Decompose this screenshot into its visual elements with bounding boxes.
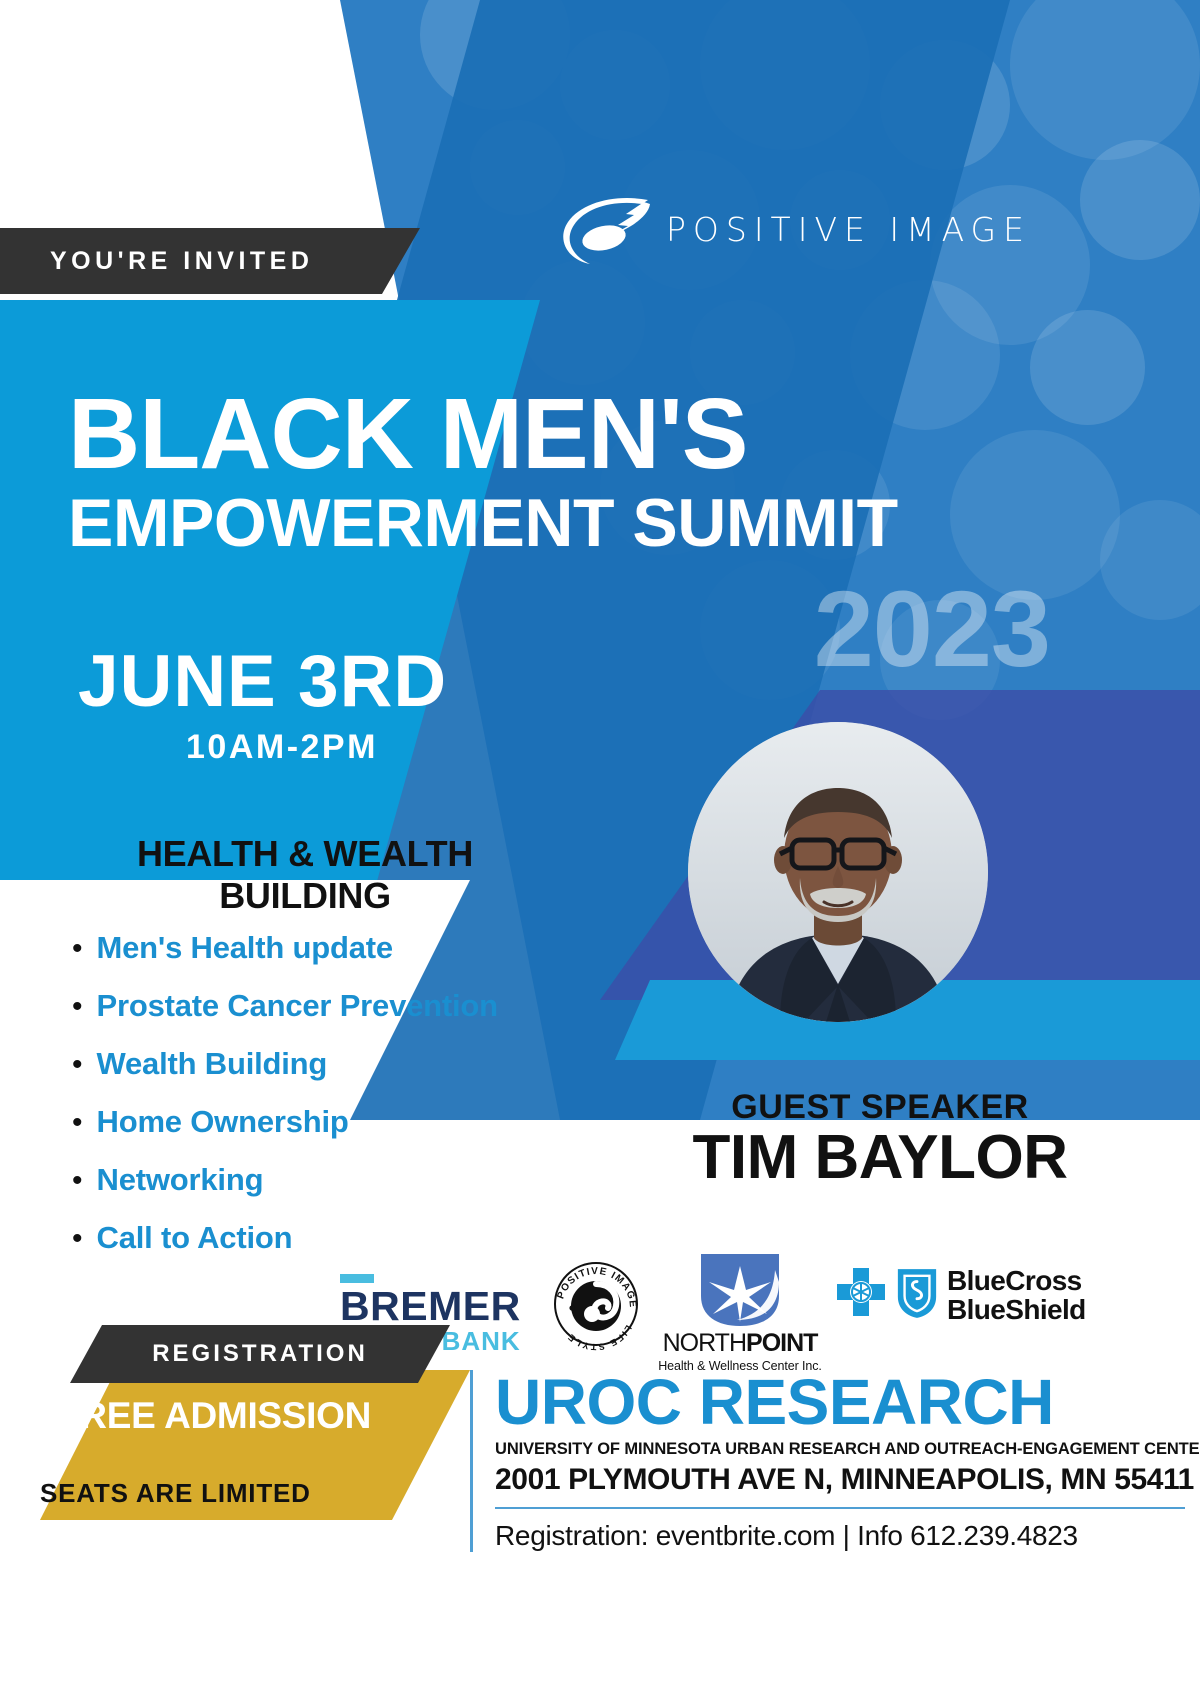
blueshield-label: BlueShield [947,1294,1086,1325]
youre-invited-ribbon: YOU'RE INVITED [0,228,420,294]
agenda-item-label: Prostate Cancer Prevention [97,988,498,1024]
registration-ribbon: REGISTRATION [70,1325,450,1383]
northpoint-point: POINT [746,1329,817,1357]
northpoint-wordmark: NORTHPOINT [655,1331,825,1356]
bullet-icon: • [72,1166,83,1196]
agenda-heading: HEALTH & WEALTH BUILDING [70,833,540,918]
youre-invited-label: YOU'RE INVITED [0,247,313,276]
positive-image-logo: POSITIVE IMAGE [556,190,1026,268]
positive-image-swoosh-icon [556,192,652,266]
event-date: JUNE 3RD [78,645,447,718]
title-line-2: EMPOWERMENT SUMMIT [68,489,1138,558]
agenda-item-label: Networking [97,1162,264,1198]
title-line-1: BLACK MEN'S [68,386,1138,483]
speaker-name: TIM BAYLOR [560,1122,1200,1193]
blue-shield-icon [895,1266,939,1325]
bluecross-blueshield-wordmark: BlueCross BlueShield [947,1267,1086,1324]
list-item: • Networking [72,1162,612,1198]
event-title: BLACK MEN'S EMPOWERMENT SUMMIT [68,386,1138,558]
venue-title: UROC RESEARCH [495,1370,1170,1434]
bullet-icon: • [72,1050,83,1080]
bullet-icon: • [72,992,83,1022]
positive-image-wordmark: POSITIVE IMAGE [666,210,1031,249]
agenda-item-label: Home Ownership [97,1104,349,1140]
venue-address: 2001 PLYMOUTH AVE N, MINNEAPOLIS, MN 554… [495,1463,1170,1497]
positive-image-lifestyle-logo: POSITIVE IMAGE LIFE STYLE [548,1256,644,1352]
bullet-icon: • [72,934,83,964]
speaker-photo [688,722,988,1022]
agenda-item-label: Men's Health update [97,930,393,966]
event-poster: YOU'RE INVITED POSITIVE IMAGE BLACK MEN'… [0,0,1200,1682]
agenda-item-label: Call to Action [97,1220,293,1256]
list-item: • Wealth Building [72,1046,612,1082]
list-item: • Men's Health update [72,930,612,966]
event-year: 2023 [814,575,1050,683]
venue-block: UROC RESEARCH UNIVERSITY OF MINNESOTA UR… [470,1370,1170,1552]
agenda-list: • Men's Health update • Prostate Cancer … [72,930,612,1278]
sponsor-logos: BREMER BANK POSITIVE IMAGE LIFE STYLE [330,1240,1130,1370]
northpoint-north: NORTH [663,1329,746,1357]
venue-divider [495,1507,1185,1509]
bluecross-blueshield-logo: BlueCross BlueShield [835,1266,1086,1325]
bremer-wordmark: BREMER [340,1287,521,1326]
bluecross-label: BlueCross [947,1265,1082,1296]
list-item: • Home Ownership [72,1104,612,1140]
bullet-icon: • [72,1224,83,1254]
northpoint-logo: NORTHPOINT Health & Wellness Center Inc. [655,1252,825,1373]
venue-contact: Registration: eventbrite.com | Info 612.… [495,1520,1170,1552]
northpoint-star-icon [697,1252,783,1328]
agenda-item-label: Wealth Building [97,1046,328,1082]
free-admission-label: FREE ADMISSION [58,1395,438,1437]
bullet-icon: • [72,1108,83,1138]
registration-label: REGISTRATION [152,1340,368,1368]
seats-limited-label: SEATS ARE LIMITED [40,1478,311,1509]
event-time: 10AM-2PM [186,728,378,767]
bremer-dash-icon [340,1274,374,1283]
list-item: • Prostate Cancer Prevention [72,988,612,1024]
venue-subtitle: UNIVERSITY OF MINNESOTA URBAN RESEARCH A… [495,1440,1170,1459]
blue-cross-icon [835,1266,887,1325]
